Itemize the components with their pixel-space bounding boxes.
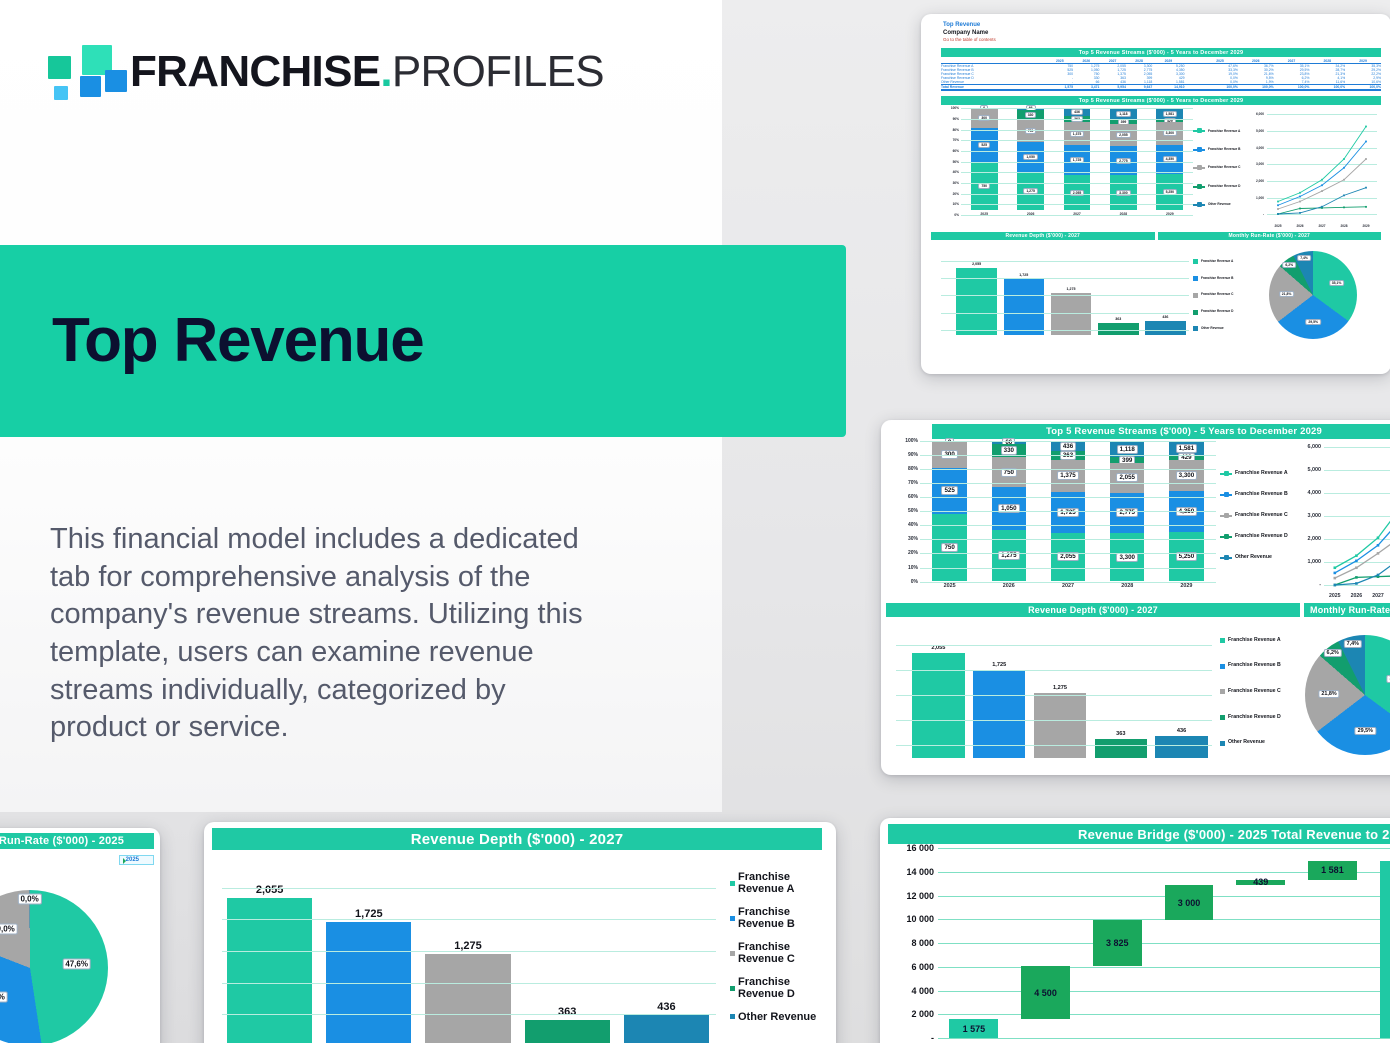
page-title: Top Revenue — [52, 310, 424, 372]
depth-column: 1,275 — [418, 866, 517, 1043]
cell-label: Total Revenue — [941, 85, 1047, 91]
legend-item: Franchise Revenue C — [730, 941, 828, 966]
depth-chart-legend: Franchise Revenue AFranchise Revenue BFr… — [1193, 243, 1245, 347]
stacked-segment: 525 — [971, 128, 998, 162]
x-tick-label: 2026 — [1289, 224, 1311, 228]
legend-swatch — [1193, 167, 1205, 169]
depth-column: 1,725 — [319, 866, 418, 1043]
column-value-label: 1,725 — [992, 662, 1006, 668]
y-tick-label: 0% — [911, 579, 918, 585]
pie-slice-label: 0,0% — [17, 894, 41, 905]
column-value-label: 363 — [1116, 731, 1125, 737]
depth-column: 436 — [1142, 253, 1189, 335]
line-x-axis: 20252026202720282029 — [1267, 224, 1377, 228]
legend-swatch — [1220, 536, 1232, 538]
y-tick-label: 50% — [953, 160, 959, 164]
legend-label: Franchise Revenue D — [1235, 534, 1288, 540]
gridline — [961, 183, 1193, 184]
gridline — [961, 151, 1193, 152]
brand-logo[interactable]: FRANCHISE.PROFILES — [46, 44, 604, 100]
large-band-row-2: Revenue Depth ($'000) - 2027 Monthly Run… — [886, 603, 1390, 617]
y-tick-label: 10% — [953, 202, 959, 206]
line-series-group — [1294, 441, 1390, 599]
legend-label: Franchise Revenue D — [1201, 310, 1233, 314]
depth-legend-large: Franchise Revenue AFranchise Revenue BFr… — [1216, 620, 1294, 770]
legend-swatch — [1220, 715, 1225, 720]
gridline — [941, 261, 1189, 262]
gridline — [961, 130, 1193, 131]
column-value-label: 1,275 — [1053, 685, 1067, 691]
stacked-segment: 525 — [932, 468, 966, 515]
screenshot-card-revenue-bridge[interactable]: Revenue Bridge ($'000) - 2025 Total Reve… — [880, 818, 1390, 1043]
column-value-label: 436 — [1177, 728, 1186, 734]
legend-item: Franchise Revenue C — [1193, 166, 1245, 170]
y-tick-label: 40% — [908, 522, 918, 528]
revenue-mix-pie-chart: 35,1%29,5%21,8%6,2%7,4% — [1269, 251, 1357, 339]
legend-swatch — [1193, 276, 1198, 281]
x-tick-label: 2026 — [1346, 593, 1368, 599]
pie-slice-label: 29,5% — [1355, 727, 1376, 735]
gridline — [941, 278, 1189, 279]
depth-bar — [1004, 279, 1045, 336]
workbook-company-name: Company Name — [943, 29, 1385, 37]
depth-title-band: Revenue Depth ($'000) - 2027 — [931, 232, 1155, 240]
legend-swatch — [1220, 741, 1225, 746]
stacked-bar-chart-large: 100%90%80%70%60%50%40%30%20%10%0% 030052… — [886, 441, 1216, 599]
x-tick-label: 2026 — [979, 583, 1038, 599]
legend-label: Franchise Revenue A — [1228, 638, 1281, 644]
gridline — [920, 483, 1216, 484]
legend-swatch — [1193, 149, 1205, 151]
column-value-label: 1,275 — [1067, 287, 1076, 291]
workbook-sheet-title: Top Revenue — [943, 21, 1385, 29]
gridline — [920, 568, 1216, 569]
brand-name-light: PROFILES — [392, 47, 604, 96]
column-value-label: 2,055 — [972, 262, 981, 266]
legend-item: Franchise Revenue A — [1193, 130, 1245, 134]
legend-item: Other Revenue — [730, 1011, 828, 1023]
runrate-2025-pie-chart: 47,6%33,3%19,0%0,0%0,0% — [0, 890, 108, 1043]
segment-value-label: 1,118 — [1116, 111, 1130, 117]
legend-label: Franchise Revenue C — [1208, 166, 1240, 170]
runrate-2025-title-band: Monthly Run-Rate ($'000) - 2025 — [0, 833, 154, 849]
cell-pct: 100,0% — [1238, 85, 1274, 91]
legend-swatch — [1220, 664, 1225, 669]
runrate-title-band-large: Monthly Run-Rate ($'000) - 2027 — [1304, 603, 1390, 617]
pie-slice-label: 7,4% — [1297, 255, 1311, 261]
segment-value-label: 1,581 — [1163, 111, 1178, 117]
y-tick-label: 10 000 — [882, 914, 934, 924]
legend-swatch — [1220, 494, 1232, 496]
y-tick-label: 70% — [953, 138, 959, 142]
waterfall-column: 4 500Franchise Revenue A — [1010, 848, 1082, 1038]
segment-value-label: 3,300 — [1176, 471, 1197, 480]
gridline — [961, 172, 1193, 173]
gridline — [961, 140, 1193, 141]
bridge-title-band: Revenue Bridge ($'000) - 2025 Total Reve… — [888, 824, 1390, 844]
depth-column: 363 — [1095, 253, 1142, 335]
brand-name-dot: . — [380, 47, 392, 96]
y-tick-label: 16 000 — [882, 843, 934, 853]
pie-slice-label: 47,6% — [62, 959, 91, 970]
revenue-bridge-waterfall: 16 00014 00012 00010 0008 0006 0004 0002… — [938, 848, 1390, 1038]
legend-item: Franchise Revenue B — [1220, 663, 1294, 669]
x-tick-label: 2027 — [1311, 224, 1333, 228]
gridline — [961, 194, 1193, 195]
legend-swatch — [1193, 259, 1198, 264]
stacked-segment: 750 — [932, 514, 966, 581]
gridline — [920, 497, 1216, 498]
segment-value-label: 1,275 — [998, 551, 1019, 560]
x-tick-label: 2025 — [920, 583, 979, 599]
y-tick-label: 20% — [953, 192, 959, 196]
cell-pct: 100,0% — [1309, 85, 1345, 91]
stacked-chart-title-band: Top 5 Revenue Streams ($'000) - 5 Years … — [941, 96, 1381, 105]
table-title-band: Top 5 Revenue Streams ($'000) - 5 Years … — [941, 48, 1381, 57]
gridline — [222, 888, 716, 889]
logo-square-lightblue — [54, 86, 68, 100]
caret-right-icon — [123, 858, 126, 864]
legend-item: Franchise Revenue B — [1220, 492, 1294, 498]
legend-swatch — [1193, 293, 1198, 298]
legend-swatch — [1220, 638, 1225, 643]
column-value-label: 2,055 — [256, 884, 284, 896]
legend-item: Other Revenue — [1220, 555, 1294, 561]
segment-value-label: 1,375 — [1070, 131, 1085, 137]
brand-name-bold: FRANCHISE — [130, 47, 380, 96]
mini-chart-row-2: 2,0551,7251,275363436 Franchise Revenue … — [931, 243, 1381, 347]
waterfall-columns: 1 5752025 Total Revenue4 500Franchise Re… — [938, 848, 1390, 1038]
legend-label: Franchise Revenue B — [1201, 277, 1233, 281]
runrate-title-band: Monthly Run-Rate ($'000) - 2027 — [1158, 232, 1382, 240]
revenue-mix-pie-chart-large: 35,1%29,5%21,8%6,2%7,4% — [1305, 635, 1390, 755]
depth-column: 2,055 — [953, 253, 1000, 335]
gridline — [941, 295, 1189, 296]
segment-value-label: 436 — [1071, 109, 1083, 115]
stacked-column: 1,5814293,3004,3505,250 — [1147, 108, 1193, 210]
mini-chart-row-1: 100%90%80%70%60%50%40%30%20%10%0% 030052… — [931, 108, 1381, 228]
y-tick-label: 2 000 — [882, 1009, 934, 1019]
waterfall-column: 1 5752025 Total Revenue — [938, 848, 1010, 1038]
legend-label: Franchise Revenue A — [1235, 471, 1288, 477]
x-tick-label: 2027 — [1038, 583, 1097, 599]
segment-value-label: 1,050 — [1023, 154, 1038, 160]
stacked-segment: 750 — [971, 162, 998, 211]
column-value-label: 363 — [558, 1006, 576, 1018]
workbook-header: Top Revenue Company Name Go to the table… — [927, 19, 1385, 43]
large-chart-row-1: 100%90%80%70%60%50%40%30%20%10%0% 030052… — [886, 441, 1390, 599]
gridline — [920, 553, 1216, 554]
logo-squares-icon — [46, 44, 114, 100]
segment-value-label: 2,055 — [1116, 132, 1131, 138]
screenshot-card-workbook-overview[interactable]: Top Revenue Company Name Go to the table… — [921, 14, 1390, 374]
gridline — [920, 511, 1216, 512]
pie-slice-label: 21,8% — [1279, 291, 1295, 297]
segment-value-label: 436 — [1060, 442, 1076, 451]
legend-item: Franchise Revenue A — [1193, 259, 1245, 264]
year-selector-2025[interactable]: 2025 — [119, 855, 154, 865]
mini-line-chart: 6,0005,0004,0003,0002,0001,000-202520262… — [1245, 108, 1381, 228]
stacked-chart-legend: Franchise Revenue AFranchise Revenue BFr… — [1193, 108, 1245, 228]
depth-bar — [525, 1020, 610, 1043]
legend-label: Franchise Revenue C — [1228, 689, 1281, 695]
depth-2027-title-band: Revenue Depth ($'000) - 2027 — [212, 828, 822, 850]
legend-item: Franchise Revenue A — [1220, 638, 1294, 644]
x-tick-label: 2025 — [1267, 224, 1289, 228]
legend-item: Franchise Revenue D — [730, 976, 828, 1001]
depth-chart-large: 2,0551,7251,275363436 — [886, 620, 1216, 770]
y-tick-label: 6 000 — [882, 962, 934, 972]
segment-value-label: 1,581 — [1176, 444, 1197, 453]
slide-canvas: FRANCHISE.PROFILES Top Revenue This fina… — [0, 0, 1390, 1043]
pie-wrap-2025: 47,6%33,3%19,0%0,0%0,0% — [0, 890, 108, 1043]
legend-item: Franchise Revenue C — [1193, 293, 1245, 298]
legend-item: Franchise Revenue D — [1193, 310, 1245, 315]
y-tick-label: 60% — [953, 149, 959, 153]
legend-label: Franchise Revenue C — [738, 941, 828, 966]
stacked-column: 663307501,0501,275 — [1007, 108, 1053, 210]
depth-column: 436 — [1151, 630, 1212, 758]
legend-swatch — [730, 986, 735, 991]
y-tick-label: 12 000 — [882, 891, 934, 901]
legend-label: Franchise Revenue C — [1235, 513, 1288, 519]
depth-column: 363 — [1090, 630, 1151, 758]
stacked-x-axis-large: 20252026202720282029 — [920, 583, 1216, 599]
gridline — [938, 1038, 1390, 1039]
depth-column: 1,725 — [1000, 253, 1047, 335]
pie-slice-label: 35,1% — [1386, 675, 1390, 683]
gridline — [222, 983, 716, 984]
cell-pct: 100,0% — [1202, 85, 1238, 91]
pie-slice-label: 35,1% — [1329, 280, 1345, 286]
segment-value-label: 3,300 — [1163, 130, 1178, 136]
stacked-column: 0300525750 — [961, 108, 1007, 210]
column-value-label: 363 — [1115, 317, 1121, 321]
gridline — [961, 119, 1193, 120]
depth-column: 2,055 — [220, 866, 319, 1043]
depth-title-band-large: Revenue Depth ($'000) - 2027 — [886, 603, 1300, 617]
segment-value-label: 2,775 — [1116, 158, 1131, 164]
legend-swatch — [1220, 515, 1232, 517]
stacked-segment: 1,050 — [992, 487, 1026, 529]
pie-slice-label: 19,0% — [0, 924, 18, 935]
legend-label: Franchise Revenue A — [1208, 130, 1240, 134]
cell-value: 3,471 — [1073, 85, 1099, 91]
stacked-segment: 436 — [1051, 441, 1085, 451]
segment-value-label: 2,775 — [1116, 508, 1137, 517]
legend-item: Franchise Revenue D — [1193, 185, 1245, 189]
stacked-segment: 2,055 — [1110, 463, 1144, 493]
legend-label: Other Revenue — [1235, 555, 1272, 561]
legend-swatch — [730, 951, 735, 956]
depth-bar — [1034, 693, 1086, 758]
stacked-segment: 4,350 — [1156, 145, 1183, 175]
x-tick-label: 2027 — [1367, 593, 1389, 599]
gridline — [222, 919, 716, 920]
logo-square-blue-right — [105, 70, 127, 92]
legend-item: Franchise Revenue B — [1193, 148, 1245, 152]
waterfall-bar: 14 910 — [1380, 861, 1390, 1038]
legend-item: Franchise Revenue B — [730, 906, 828, 931]
depth-bar — [425, 954, 510, 1043]
stacked-segment: 3,300 — [1169, 460, 1203, 491]
gridline — [920, 455, 1216, 456]
gridline — [941, 330, 1189, 331]
segment-value-label: 2,055 — [1116, 473, 1137, 482]
legend-label: Franchise Revenue B — [738, 906, 828, 931]
waterfall-column: 1 581Other Revenue — [1297, 848, 1369, 1038]
gridline — [896, 670, 1212, 671]
segment-value-label: 1,118 — [1117, 445, 1138, 454]
legend-swatch — [1193, 186, 1205, 188]
waterfall-bar: 4 500 — [1021, 966, 1070, 1019]
revenue-table: 2025 2026 2027 2028 2029 2025 2026 2027 … — [941, 59, 1381, 91]
legend-swatch — [1193, 204, 1205, 206]
waterfall-bar: 3 000 — [1165, 885, 1214, 921]
legend-label: Franchise Revenue B — [1208, 148, 1240, 152]
mini-depth-chart: 2,0551,7251,275363436 — [931, 243, 1193, 347]
column-value-label: 1,725 — [1019, 273, 1028, 277]
legend-item: Franchise Revenue D — [1220, 534, 1294, 540]
screenshot-card-runrate-2025[interactable]: Monthly Run-Rate ($'000) - 2025 2025 47,… — [0, 828, 160, 1043]
legend-label: Other Revenue — [738, 1011, 816, 1023]
legend-item: Other Revenue — [1193, 326, 1245, 331]
x-tick-label: 2029 — [1355, 224, 1377, 228]
y-tick-label: 100% — [951, 106, 959, 110]
legend-label: Franchise Revenue D — [1228, 715, 1281, 721]
cell-value: 14,910 — [1152, 85, 1184, 91]
y-tick-label: 20% — [908, 550, 918, 556]
depth-bar — [912, 653, 964, 758]
segment-value-label: 525 — [978, 142, 990, 148]
column-value-label: 436 — [657, 1001, 675, 1013]
x-tick-label: 2028 — [1333, 224, 1355, 228]
legend-label: Franchise Revenue A — [1201, 260, 1233, 264]
y-tick-label: 70% — [908, 480, 918, 486]
brand-wordmark: FRANCHISE.PROFILES — [130, 50, 604, 94]
y-tick-label: 14 000 — [882, 867, 934, 877]
legend-label: Franchise Revenue D — [738, 976, 828, 1001]
table-total-row: Total Revenue 1,575 3,471 5,954 9,647 14… — [941, 85, 1381, 91]
legend-swatch — [1193, 130, 1205, 132]
stacked-column: 4363631,3751,7252,055 — [1054, 108, 1100, 210]
legend-swatch — [1220, 557, 1232, 559]
stacked-y-axis-large: 100%90%80%70%60%50%40%30%20%10%0% — [886, 441, 920, 599]
x-tick-label: 2028 — [1098, 583, 1157, 599]
depth-bar — [1145, 321, 1186, 335]
y-tick-label: 0% — [954, 213, 959, 217]
depth-bar — [624, 1015, 709, 1043]
mini-band-row-2: Revenue Depth ($'000) - 2027 Monthly Run… — [931, 232, 1381, 240]
column-value-label: 1,725 — [355, 908, 383, 920]
gridline — [222, 951, 716, 952]
cell-pct: 100,0% — [1274, 85, 1310, 91]
mini-pie-wrap: 35,1%29,5%21,8%6,2%7,4% — [1245, 243, 1381, 347]
screenshot-card-charts-zoom[interactable]: Top 5 Revenue Streams ($'000) - 5 Years … — [881, 420, 1390, 775]
y-tick-label: 30% — [908, 536, 918, 542]
stacked-columns: 0300525750663307501,0501,2754363631,3751… — [961, 108, 1193, 210]
legend-swatch — [1193, 310, 1198, 315]
pie-slice-label: 33,3% — [0, 992, 8, 1003]
x-tick-label: 2025 — [1324, 593, 1346, 599]
stacked-segment: 750 — [1017, 120, 1044, 142]
legend-swatch — [730, 916, 735, 921]
stacked-segment: 1,375 — [1064, 122, 1091, 146]
line-chart-large: 6,0005,0004,0003,0002,0001,000-202520262… — [1294, 441, 1390, 599]
y-tick-label: 8 000 — [882, 938, 934, 948]
gridline — [961, 204, 1193, 205]
segment-value-label: 525 — [941, 486, 957, 495]
gridline — [896, 695, 1212, 696]
workbook-toc-link[interactable]: Go to the table of contents — [943, 37, 1385, 43]
depth-column: 1,725 — [969, 630, 1030, 758]
legend-item: Franchise Revenue A — [1220, 471, 1294, 477]
gridline — [896, 645, 1212, 646]
y-tick-label: 60% — [908, 494, 918, 500]
pie-slice-label: 29,5% — [1305, 319, 1321, 325]
screenshot-card-depth-2027[interactable]: Revenue Depth ($'000) - 2027 2,0551,7251… — [204, 822, 836, 1043]
y-tick-label: 100% — [905, 438, 918, 444]
gridline — [920, 582, 1216, 583]
pie-slice-label: 21,8% — [1318, 690, 1339, 698]
legend-item: Franchise Revenue B — [1193, 276, 1245, 281]
stacked-column: 1,1183992,0552,7753,300 — [1100, 108, 1146, 210]
gridline — [896, 720, 1212, 721]
stacked-segment: 2,775 — [1110, 493, 1144, 533]
legend-item: Franchise Revenue D — [1220, 715, 1294, 721]
legend-swatch — [730, 1014, 735, 1019]
hero-description: This financial model includes a dedicate… — [50, 521, 610, 747]
gridline — [961, 162, 1193, 163]
segment-value-label: 1,725 — [1057, 508, 1078, 517]
cell-pct: 100,0% — [1345, 85, 1381, 91]
stacked-y-axis: 100%90%80%70%60%50%40%30%20%10%0% — [931, 108, 961, 228]
line-x-axis: 20252026202720282029 — [1324, 593, 1390, 599]
y-tick-label: 90% — [953, 117, 959, 121]
waterfall-column: 3 825Franchise Revenue B — [1081, 848, 1153, 1038]
stacked-segment: 1,375 — [1051, 460, 1085, 492]
stacked-segment: 436 — [1064, 108, 1091, 115]
stacked-segment: 1,725 — [1064, 145, 1091, 175]
waterfall-bar: 439 — [1236, 880, 1285, 885]
y-tick-label: 10% — [908, 565, 918, 571]
segment-value-label: 2,055 — [1070, 190, 1085, 196]
legend-swatch — [1193, 326, 1198, 331]
line-series-group — [1245, 108, 1381, 228]
gridline — [961, 108, 1193, 109]
waterfall-column: 3 000Franchise Revenue C — [1153, 848, 1225, 1038]
gridline — [920, 539, 1216, 540]
waterfall-column: 14 9102029 Total Revenue — [1368, 848, 1390, 1038]
stacked-segment: 1,050 — [1017, 142, 1044, 173]
y-tick-label: 80% — [908, 466, 918, 472]
stacked-segment: 1,275 — [992, 530, 1026, 581]
legend-label: Other Revenue — [1201, 327, 1224, 331]
gridline — [961, 215, 1193, 216]
waterfall-column: 439Franchise Revenue D — [1225, 848, 1297, 1038]
column-value-label: 436 — [1162, 315, 1168, 319]
logo-square-blue-mid — [80, 76, 101, 97]
depth-column: 1,275 — [1047, 253, 1094, 335]
segment-value-label: 1,375 — [1057, 471, 1078, 480]
legend-item: Franchise Revenue C — [1220, 689, 1294, 695]
gridline — [222, 1014, 716, 1015]
segment-value-label: 750 — [941, 543, 957, 552]
legend-label: Franchise Revenue B — [1228, 663, 1281, 669]
depth-2027-legend: Franchise Revenue AFranchise Revenue BFr… — [720, 856, 828, 1043]
gridline — [896, 745, 1212, 746]
legend-label: Franchise Revenue A — [738, 871, 828, 896]
